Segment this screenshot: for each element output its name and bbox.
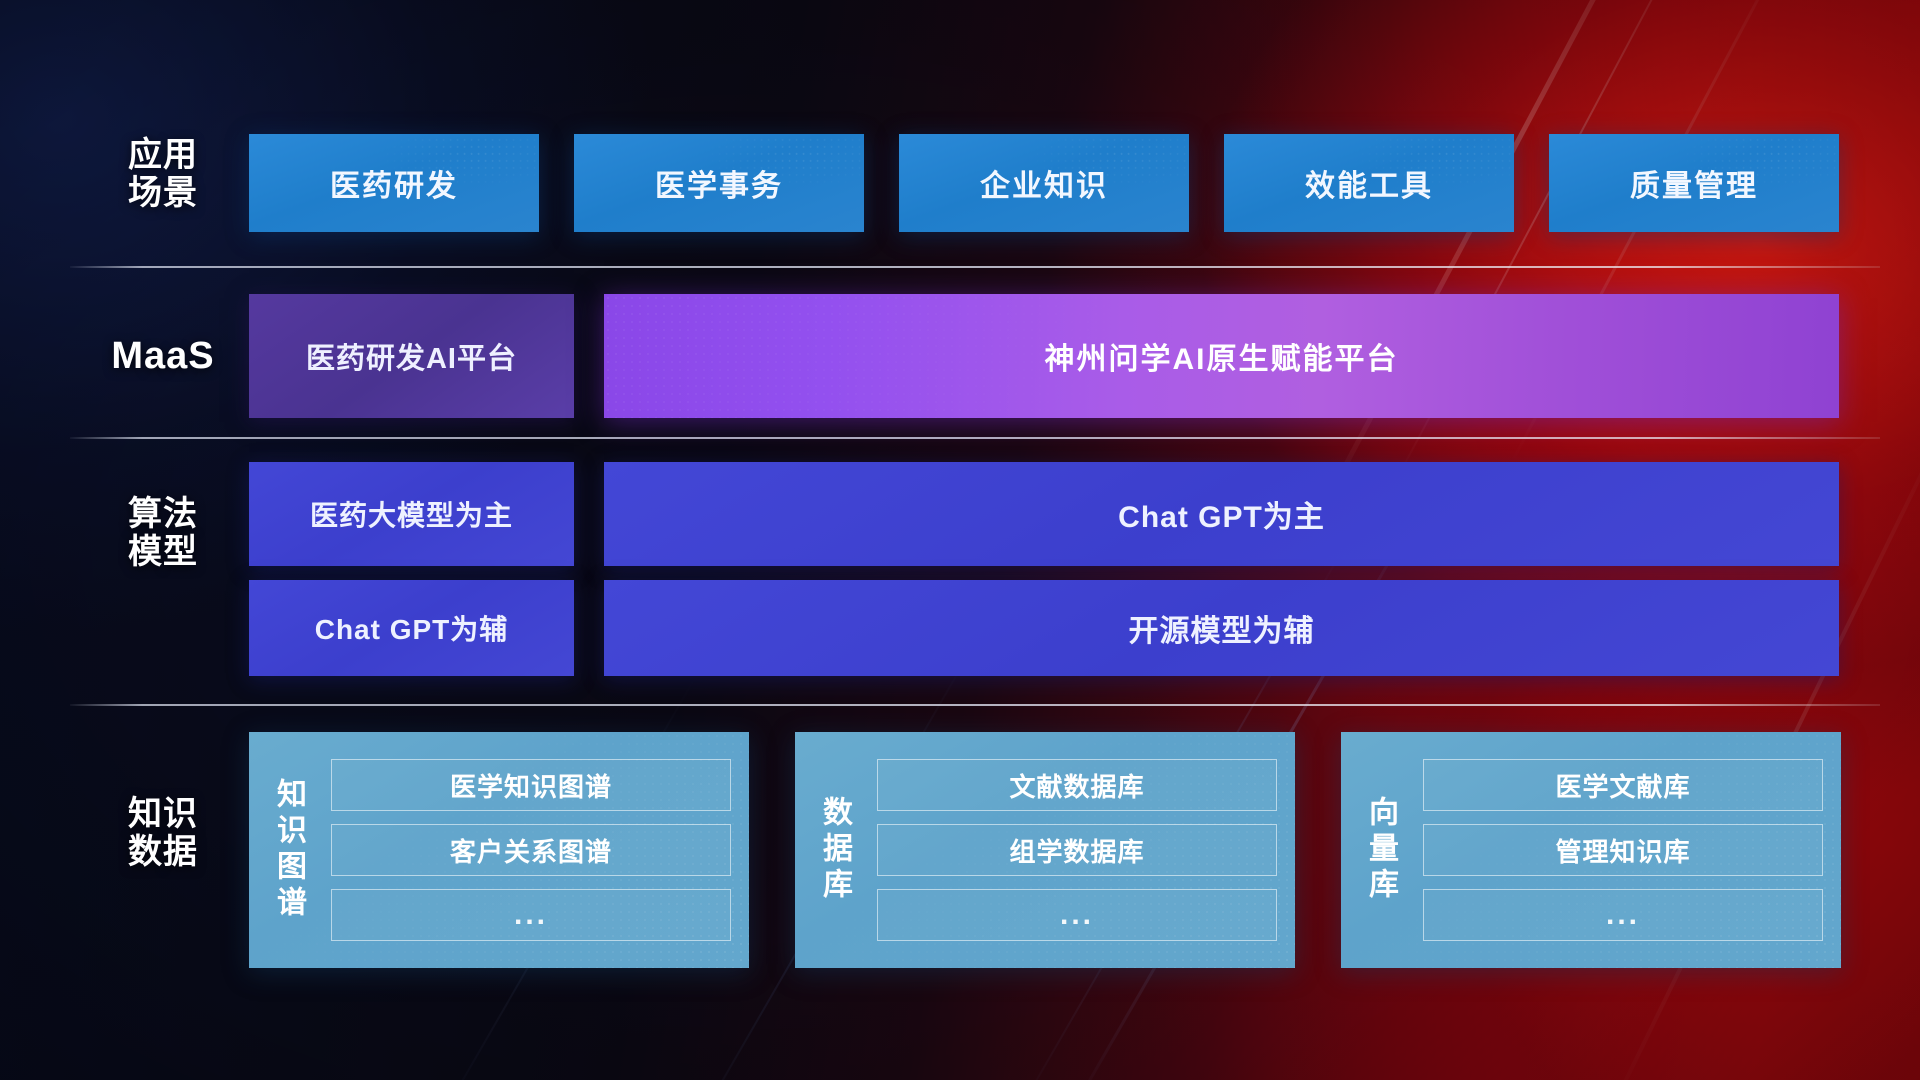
knowledge-item[interactable]: 医学文献库 [1423, 759, 1823, 811]
row-label-maas: MaaS [88, 335, 238, 378]
knowledge-panel-knowledge-graph[interactable]: 知识图谱 医学知识图谱 客户关系图谱 ... [249, 732, 749, 968]
row-divider [70, 437, 1880, 439]
row-label-line-1: 知识 [88, 795, 238, 833]
app-scenario-box-medicine-rd[interactable]: 医药研发 [249, 134, 539, 232]
knowledge-item-more[interactable]: ... [1423, 889, 1823, 941]
knowledge-item-more[interactable]: ... [877, 889, 1277, 941]
knowledge-item[interactable]: 组学数据库 [877, 824, 1277, 876]
app-scenario-box-quality-management[interactable]: 质量管理 [1549, 134, 1839, 232]
app-scenario-box-enterprise-knowledge[interactable]: 企业知识 [899, 134, 1189, 232]
app-scenario-box-efficiency-tools[interactable]: 效能工具 [1224, 134, 1514, 232]
algo-box-chatgpt-secondary[interactable]: Chat GPT为辅 [249, 580, 574, 676]
algo-box-label: Chat GPT为辅 [315, 608, 509, 648]
row-divider [70, 704, 1880, 706]
maas-box-label: 医药研发AI平台 [306, 335, 517, 377]
row-label-line-1: 应用 [88, 136, 238, 174]
knowledge-panel-title: 数据库 [795, 732, 873, 968]
algo-box-chatgpt-primary[interactable]: Chat GPT为主 [604, 462, 1839, 566]
algo-box-opensource-model-secondary[interactable]: 开源模型为辅 [604, 580, 1839, 676]
algo-box-label: 医药大模型为主 [310, 494, 513, 534]
knowledge-panel-item-list: 文献数据库 组学数据库 ... [873, 732, 1295, 968]
knowledge-item-more[interactable]: ... [331, 889, 731, 941]
app-scenario-label: 医药研发 [330, 161, 458, 205]
app-scenario-label: 质量管理 [1630, 161, 1758, 205]
row-label-algorithm-model: 算法 模型 [88, 495, 238, 572]
row-label-knowledge-data: 知识 数据 [88, 795, 238, 872]
algo-box-medicine-large-model-primary[interactable]: 医药大模型为主 [249, 462, 574, 566]
maas-box-label: 神州问学AI原生赋能平台 [1045, 334, 1399, 378]
maas-box-medicine-rd-ai-platform[interactable]: 医药研发AI平台 [249, 294, 574, 418]
knowledge-panel-title: 知识图谱 [249, 732, 327, 968]
knowledge-panel-database[interactable]: 数据库 文献数据库 组学数据库 ... [795, 732, 1295, 968]
row-divider [70, 266, 1880, 268]
app-scenario-label: 企业知识 [980, 161, 1108, 205]
row-label-line-2: 场景 [88, 174, 238, 212]
row-label-application-scenarios: 应用 场景 [88, 136, 238, 213]
algo-box-label: 开源模型为辅 [1129, 606, 1315, 650]
knowledge-panel-item-list: 医学文献库 管理知识库 ... [1419, 732, 1841, 968]
maas-box-shenzhou-wenxue-platform[interactable]: 神州问学AI原生赋能平台 [604, 294, 1839, 418]
row-label-line-1: 算法 [88, 495, 238, 533]
knowledge-item[interactable]: 文献数据库 [877, 759, 1277, 811]
knowledge-item[interactable]: 客户关系图谱 [331, 824, 731, 876]
row-label-line-2: 数据 [88, 833, 238, 871]
architecture-diagram-canvas: 应用 场景 医药研发 医学事务 企业知识 效能工具 质量管理 MaaS 医药研发… [0, 0, 1920, 1080]
knowledge-panel-item-list: 医学知识图谱 客户关系图谱 ... [327, 732, 749, 968]
knowledge-item[interactable]: 管理知识库 [1423, 824, 1823, 876]
app-scenario-label: 效能工具 [1305, 161, 1433, 205]
knowledge-panel-vector-database[interactable]: 向量库 医学文献库 管理知识库 ... [1341, 732, 1841, 968]
app-scenario-label: 医学事务 [655, 161, 783, 205]
knowledge-item[interactable]: 医学知识图谱 [331, 759, 731, 811]
row-label-text: MaaS [88, 335, 238, 378]
app-scenario-box-medical-affairs[interactable]: 医学事务 [574, 134, 864, 232]
row-label-line-2: 模型 [88, 533, 238, 571]
knowledge-panel-title: 向量库 [1341, 732, 1419, 968]
algo-box-label: Chat GPT为主 [1118, 492, 1325, 536]
